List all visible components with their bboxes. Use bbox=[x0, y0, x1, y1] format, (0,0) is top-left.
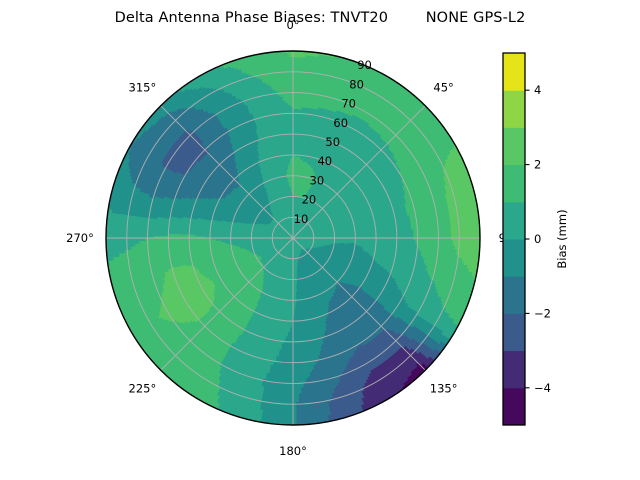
colorbar-swatch bbox=[503, 313, 525, 351]
colorbar-tick-label: 0 bbox=[534, 232, 541, 246]
colorbar-swatch bbox=[503, 127, 525, 165]
colorbar: −4−2024 Bias (mm) bbox=[0, 0, 640, 480]
colorbar-swatch bbox=[503, 202, 525, 240]
colorbar-swatch bbox=[503, 351, 525, 389]
colorbar-swatch bbox=[503, 165, 525, 203]
colorbar-tick-label: 4 bbox=[534, 83, 541, 97]
colorbar-tick-label: −2 bbox=[534, 306, 551, 320]
colorbar-swatch bbox=[503, 388, 525, 426]
colorbar-ticks: −4−2024 bbox=[525, 83, 551, 395]
figure-canvas: Delta Antenna Phase Biases: TNVT20 NONE … bbox=[0, 0, 640, 480]
colorbar-tick-label: 2 bbox=[534, 158, 541, 172]
colorbar-swatch bbox=[503, 90, 525, 128]
colorbar-axis-label: Bias (mm) bbox=[555, 209, 569, 268]
colorbar-swatch bbox=[503, 276, 525, 314]
colorbar-tick-label: −4 bbox=[534, 381, 551, 395]
colorbar-swatches bbox=[503, 53, 525, 426]
colorbar-swatch bbox=[503, 53, 525, 91]
colorbar-swatch bbox=[503, 239, 525, 277]
